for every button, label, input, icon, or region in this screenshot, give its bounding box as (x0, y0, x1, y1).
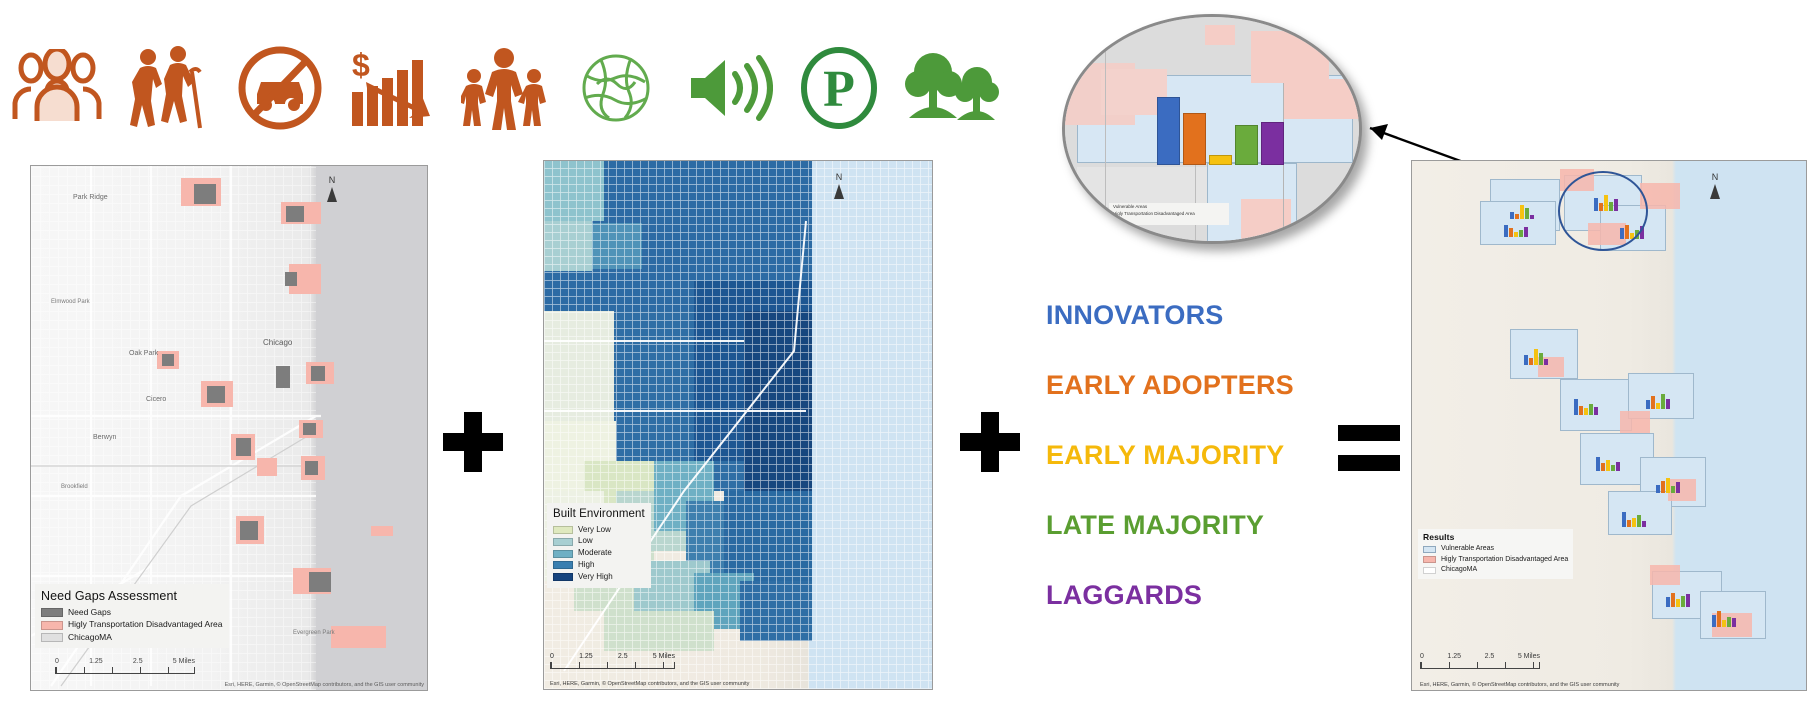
elderly-persons-icon (120, 35, 218, 140)
magnified-bar-chart (1157, 93, 1287, 165)
map-attribution: Esri, HERE, Garmin, © OpenStreetMap cont… (1420, 682, 1804, 688)
mini-bar-chart (1510, 199, 1534, 219)
adopter-laggards: LAGGARDS (1046, 580, 1346, 611)
plus-operator-2 (960, 412, 1020, 472)
noise-icon (679, 35, 777, 140)
map-built-environment[interactable]: N Built Environment Very Low Low Moderat… (543, 160, 933, 690)
need-gap-patch (285, 272, 297, 286)
parking-icon: P (790, 35, 888, 140)
mini-bar-chart (1504, 217, 1528, 237)
plus-operator-1 (443, 412, 503, 472)
scalebar-ticks (550, 662, 675, 669)
bar-innovators (1157, 97, 1180, 165)
place-label: Chicago (263, 338, 292, 347)
equals-operator (1338, 425, 1400, 471)
scalebar-tick: 5 Miles (1518, 653, 1540, 660)
disadvantaged-area-patch (1650, 565, 1680, 585)
legend-label: Low (578, 536, 593, 547)
legend-swatch-very-low (553, 526, 573, 534)
legend-results: Results Vulnerable Areas Higly Transport… (1418, 529, 1573, 579)
magnifier-content: Vulnerable Areas Higly Transportation Di… (1065, 17, 1359, 241)
highlighted-tract-circle (1558, 171, 1648, 251)
no-car-icon (232, 35, 330, 140)
legend-label: Need Gaps (68, 607, 111, 618)
legend-row: ChicagoMA (41, 632, 223, 643)
map-need-gaps[interactable]: Park Ridge Elmwood Park Oak Park Chicago… (30, 165, 428, 691)
need-gap-patch (207, 386, 225, 403)
legend-row: Higly Transportation Disadvantaged Area (1423, 555, 1568, 564)
family-children-icon (455, 35, 553, 140)
scalebar-tick: 0 (550, 653, 554, 660)
bar-late-majority (1235, 125, 1258, 165)
north-arrow-icon (834, 184, 844, 199)
scalebar-ticks (55, 667, 195, 674)
scalebar-tick: 0 (1420, 653, 1424, 660)
legend-label: Very High (578, 572, 613, 583)
need-gap-patch (240, 521, 258, 540)
highway-network (544, 161, 933, 690)
legend-label: Moderate (578, 548, 612, 559)
disadvantaged-area-patch (371, 526, 393, 536)
legend-swatch-very-high (553, 573, 573, 581)
mg-basemap-block (1077, 167, 1207, 207)
need-gap-patch (309, 572, 331, 592)
legend-label: Higly Transportation Disadvantaged Area (68, 619, 223, 630)
mg-legend-label: Higly Transportation Disadvantaged Area (1113, 211, 1195, 218)
north-arrow: N (327, 176, 337, 202)
legend-label: Vulnerable Areas (1441, 544, 1494, 553)
place-label: Berwyn (93, 434, 116, 441)
need-gap-patch (236, 438, 251, 456)
place-label: Park Ridge (73, 194, 108, 201)
mini-bar-chart (1596, 449, 1620, 471)
mini-bar-chart (1574, 393, 1598, 415)
mini-bar-chart (1656, 471, 1680, 493)
income-decline-icon: $ (343, 35, 441, 140)
scalebar-tick: 5 Miles (173, 658, 195, 665)
map-results[interactable]: N Results Vulnerable Areas Higly Transpo… (1411, 160, 1807, 691)
magnifier-callout: Vulnerable Areas Higly Transportation Di… (1062, 14, 1362, 244)
disadvantaged-area-patch (331, 626, 386, 648)
map-attribution: Esri, HERE, Garmin, © OpenStreetMap cont… (144, 682, 424, 688)
adopter-late-majority: LATE MAJORITY (1046, 510, 1346, 541)
mini-bar-chart (1646, 387, 1670, 409)
place-label: Brookfield (61, 484, 88, 490)
legend-row: Higly Transportation Disadvantaged Area (41, 619, 223, 630)
mg-disadvantaged-area (1283, 79, 1362, 119)
need-gap-patch (162, 354, 174, 366)
legend-label: Very Low (578, 525, 611, 536)
bar-early-adopters (1183, 113, 1206, 165)
disadvantaged-area-patch (1620, 411, 1650, 433)
scalebar-tick: 0 (55, 658, 59, 665)
population-group-icon (8, 35, 106, 140)
mg-legend-text: Vulnerable Areas Higly Transportation Di… (1113, 204, 1195, 218)
adopter-early-majority: EARLY MAJORITY (1046, 440, 1346, 471)
legend-label: High (578, 560, 594, 571)
north-label: N (1710, 173, 1720, 182)
legend-label: ChicagoMA (68, 632, 112, 643)
legend-row: Need Gaps (41, 607, 223, 618)
need-gap-patch (311, 366, 325, 381)
scalebar-built-environment: 0 1.25 2.5 5 Miles (550, 653, 675, 669)
north-label: N (834, 173, 844, 182)
legend-row: Very Low (553, 525, 645, 536)
legend-need-gaps: Need Gaps Assessment Need Gaps Higly Tra… (35, 584, 229, 648)
scalebar-tick: 1.25 (579, 653, 593, 660)
north-arrow: N (1710, 173, 1720, 199)
scalebar-tick: 2.5 (618, 653, 628, 660)
mg-disadvantaged-area (1205, 25, 1235, 45)
legend-row: Low (553, 536, 645, 547)
need-gap-patch (305, 461, 318, 475)
legend-swatch-need-gaps (41, 608, 63, 617)
tree-canopy-icon (902, 35, 1000, 140)
mg-legend-label: Vulnerable Areas (1113, 204, 1195, 211)
legend-swatch-moderate (553, 550, 573, 558)
legend-label: Higly Transportation Disadvantaged Area (1441, 555, 1568, 564)
figure-canvas: $ (0, 0, 1807, 711)
mini-bar-chart (1712, 605, 1736, 627)
place-label: Oak Park (129, 350, 158, 357)
place-label: Elmwood Park (51, 299, 90, 305)
adopter-category-list: INNOVATORS EARLY ADOPTERS EARLY MAJORITY… (1046, 300, 1346, 650)
bar-laggards (1261, 122, 1284, 165)
scalebar-tick: 1.25 (89, 658, 103, 665)
adopter-innovators: INNOVATORS (1046, 300, 1346, 331)
north-label: N (327, 176, 337, 185)
indicator-icon-row: $ (0, 30, 1000, 145)
legend-swatch-low (553, 538, 573, 546)
scalebar-ticks (1420, 662, 1540, 669)
need-gap-patch (303, 423, 316, 435)
bar-early-majority (1209, 155, 1232, 165)
legend-row: Very High (553, 572, 645, 583)
map-attribution: Esri, HERE, Garmin, © OpenStreetMap cont… (550, 681, 930, 687)
legend-swatch-disadvantaged (41, 621, 63, 630)
scalebar-results: 0 1.25 2.5 5 Miles (1420, 653, 1540, 669)
legend-row: ChicagoMA (1423, 565, 1568, 574)
legend-row: Moderate (553, 548, 645, 559)
legend-title: Results (1423, 532, 1568, 543)
need-gap-patch (276, 366, 290, 388)
mini-bar-chart (1622, 505, 1646, 527)
scalebar-need-gaps: 0 1.25 2.5 5 Miles (55, 658, 195, 674)
adopter-early-adopters: EARLY ADOPTERS (1046, 370, 1346, 401)
legend-swatch-vulnerable (1423, 546, 1436, 553)
legend-swatch-disadvantaged (1423, 556, 1436, 563)
need-gap-patch (286, 206, 304, 222)
mg-boundary-line (1105, 17, 1106, 244)
air-quality-icon (567, 35, 665, 140)
svg-text:P: P (823, 61, 855, 118)
place-label: Evergreen Park (293, 630, 335, 636)
legend-swatch-high (553, 561, 573, 569)
legend-label: ChicagoMA (1441, 565, 1477, 574)
scalebar-tick: 2.5 (1485, 653, 1495, 660)
north-arrow: N (834, 173, 844, 199)
legend-row: High (553, 560, 645, 571)
north-arrow-icon (327, 187, 337, 202)
scalebar-tick: 5 Miles (653, 653, 675, 660)
legend-swatch-chicagoma (41, 633, 63, 642)
scalebar-tick: 1.25 (1447, 653, 1461, 660)
scalebar-tick: 2.5 (133, 658, 143, 665)
legend-built-environment: Built Environment Very Low Low Moderate … (547, 503, 651, 588)
place-label: Cicero (146, 396, 166, 403)
legend-title: Built Environment (553, 507, 645, 523)
legend-row: Vulnerable Areas (1423, 544, 1568, 553)
need-gap-patch (194, 184, 216, 204)
north-arrow-icon (1710, 184, 1720, 199)
mini-bar-chart (1666, 585, 1690, 607)
mg-disadvantaged-area (1251, 31, 1329, 83)
legend-swatch-chicagoma (1423, 567, 1436, 574)
legend-title: Need Gaps Assessment (41, 588, 223, 605)
svg-text:$: $ (352, 47, 370, 83)
mini-bar-chart (1524, 343, 1548, 365)
disadvantaged-area-patch (257, 458, 277, 476)
